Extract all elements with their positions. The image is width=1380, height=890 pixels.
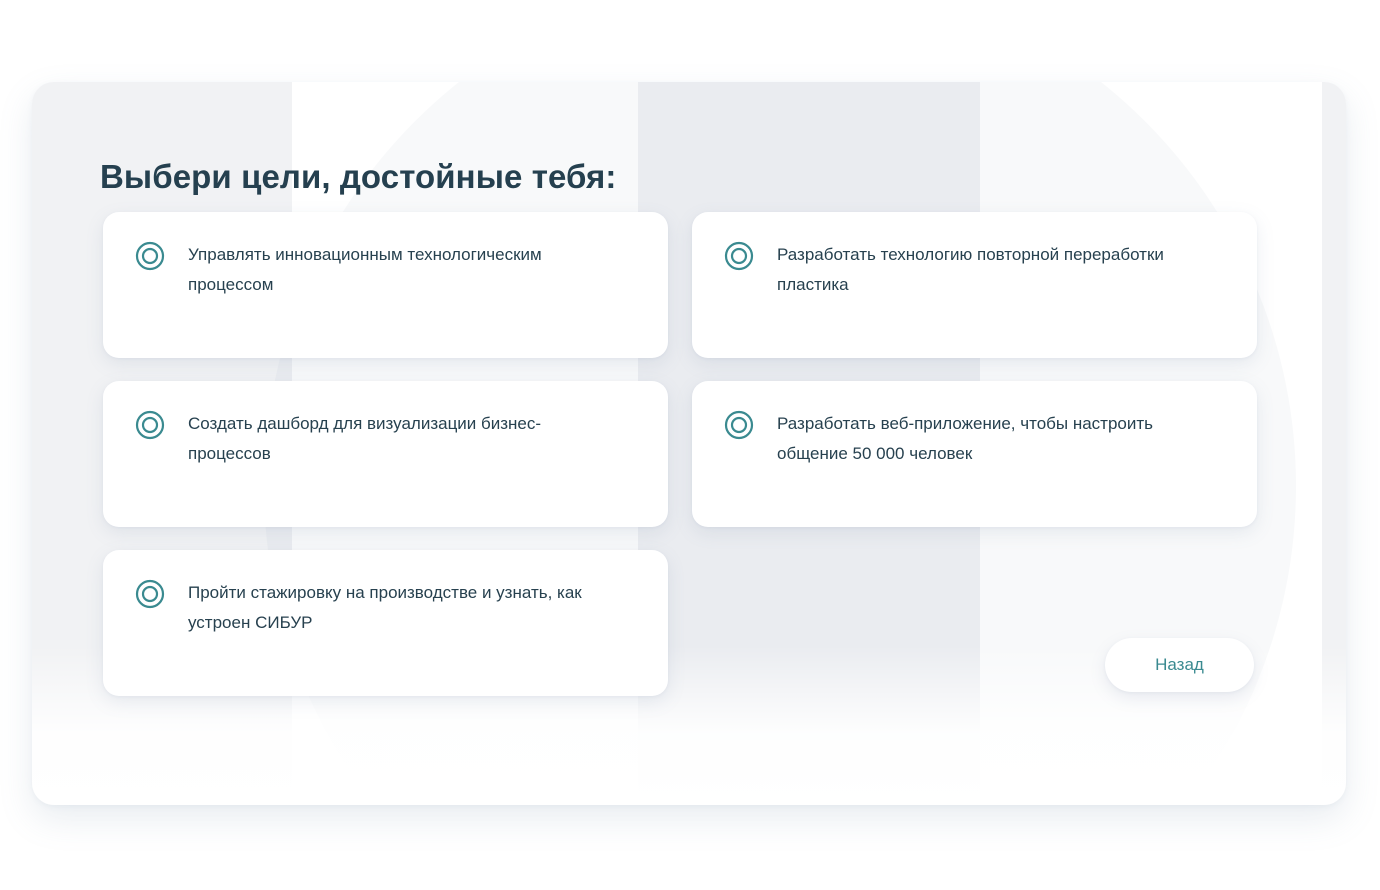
- goals-panel: Выбери цели, достойные тебя: Управлять и…: [32, 82, 1346, 805]
- goal-card-label: Разработать веб-приложение, чтобы настро…: [777, 409, 1197, 469]
- target-ring-icon: [135, 410, 165, 440]
- target-ring-icon: [135, 241, 165, 271]
- target-ring-icon: [135, 579, 165, 609]
- page-title: Выбери цели, достойные тебя:: [100, 156, 617, 198]
- goal-card-4[interactable]: Разработать веб-приложение, чтобы настро…: [692, 381, 1257, 527]
- goal-card-label: Создать дашборд для визуализации бизнес-…: [188, 409, 608, 469]
- screen-root: Выбери цели, достойные тебя: Управлять и…: [0, 0, 1380, 890]
- target-ring-icon: [724, 410, 754, 440]
- goal-card-5[interactable]: Пройти стажировку на производстве и узна…: [103, 550, 668, 696]
- goal-card-label: Разработать технологию повторной перераб…: [777, 240, 1197, 300]
- goal-card-label: Управлять инновационным технологическим …: [188, 240, 608, 300]
- goal-card-3[interactable]: Создать дашборд для визуализации бизнес-…: [103, 381, 668, 527]
- target-ring-icon: [724, 241, 754, 271]
- goal-card-grid: Управлять инновационным технологическим …: [103, 212, 1255, 696]
- back-button[interactable]: Назад: [1105, 638, 1254, 692]
- goal-card-1[interactable]: Управлять инновационным технологическим …: [103, 212, 668, 358]
- panel-content: Выбери цели, достойные тебя: Управлять и…: [32, 82, 1346, 805]
- goal-card-label: Пройти стажировку на производстве и узна…: [188, 578, 608, 638]
- goal-card-2[interactable]: Разработать технологию повторной перераб…: [692, 212, 1257, 358]
